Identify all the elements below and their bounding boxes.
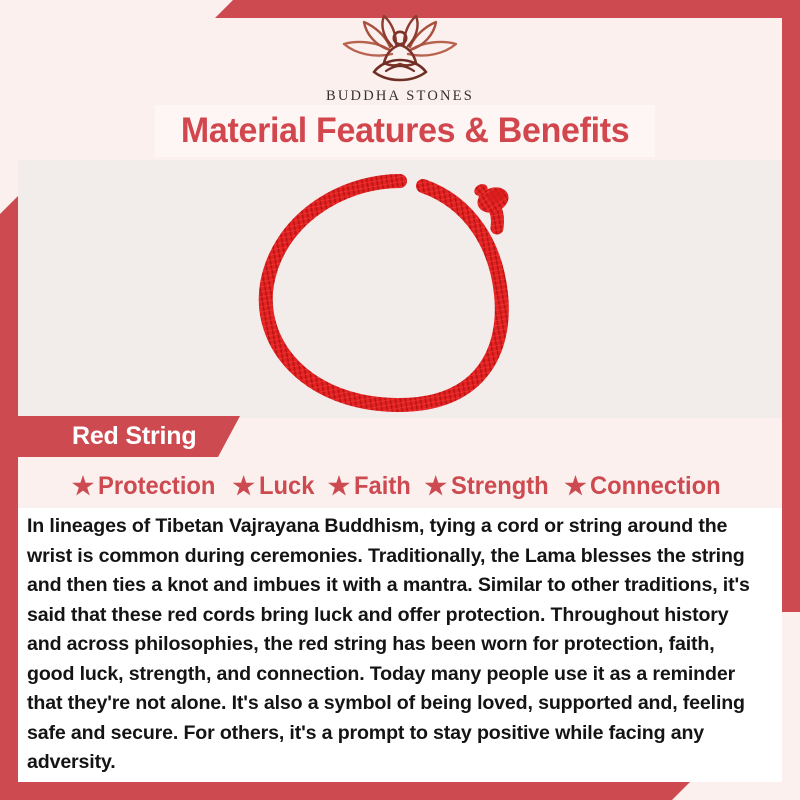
brand-name: BUDDHA STONES bbox=[326, 88, 474, 105]
star-icon bbox=[72, 475, 94, 497]
red-braided-string-bracelet bbox=[245, 174, 555, 414]
benefit-label: Luck bbox=[259, 472, 314, 501]
star-icon bbox=[425, 475, 447, 497]
benefit-label: Connection bbox=[590, 472, 721, 501]
page-title: Material Features & Benefits bbox=[181, 111, 629, 151]
benefit-item-protection: Protection bbox=[68, 472, 226, 501]
title-banner: Material Features & Benefits bbox=[155, 105, 655, 157]
lotus-meditation-figure-icon bbox=[334, 14, 466, 86]
product-image-panel bbox=[18, 160, 782, 418]
benefit-label: Faith bbox=[354, 472, 411, 501]
decorative-left-bar bbox=[0, 196, 18, 800]
product-name-label: Red String bbox=[18, 422, 196, 451]
benefit-item-luck: Luck bbox=[229, 472, 321, 501]
infographic-page: BUDDHA STONES Material Features & Benefi… bbox=[0, 0, 800, 800]
star-icon bbox=[233, 475, 255, 497]
benefit-label: Strength bbox=[451, 472, 549, 501]
description-panel: In lineages of Tibetan Vajrayana Buddhis… bbox=[18, 508, 782, 782]
benefit-label: Protection bbox=[98, 472, 215, 501]
product-name-ribbon: Red String bbox=[18, 416, 240, 457]
benefits-row: Protection Luck Faith Strength Connectio… bbox=[18, 466, 782, 506]
star-icon bbox=[328, 475, 350, 497]
star-icon bbox=[564, 475, 586, 497]
brand-logo: BUDDHA STONES bbox=[0, 14, 800, 105]
benefit-item-connection: Connection bbox=[560, 472, 732, 501]
benefit-item-strength: Strength bbox=[421, 472, 558, 501]
decorative-bottom-bar bbox=[0, 782, 690, 800]
description-text: In lineages of Tibetan Vajrayana Buddhis… bbox=[27, 512, 764, 778]
benefit-item-faith: Faith bbox=[324, 472, 418, 501]
